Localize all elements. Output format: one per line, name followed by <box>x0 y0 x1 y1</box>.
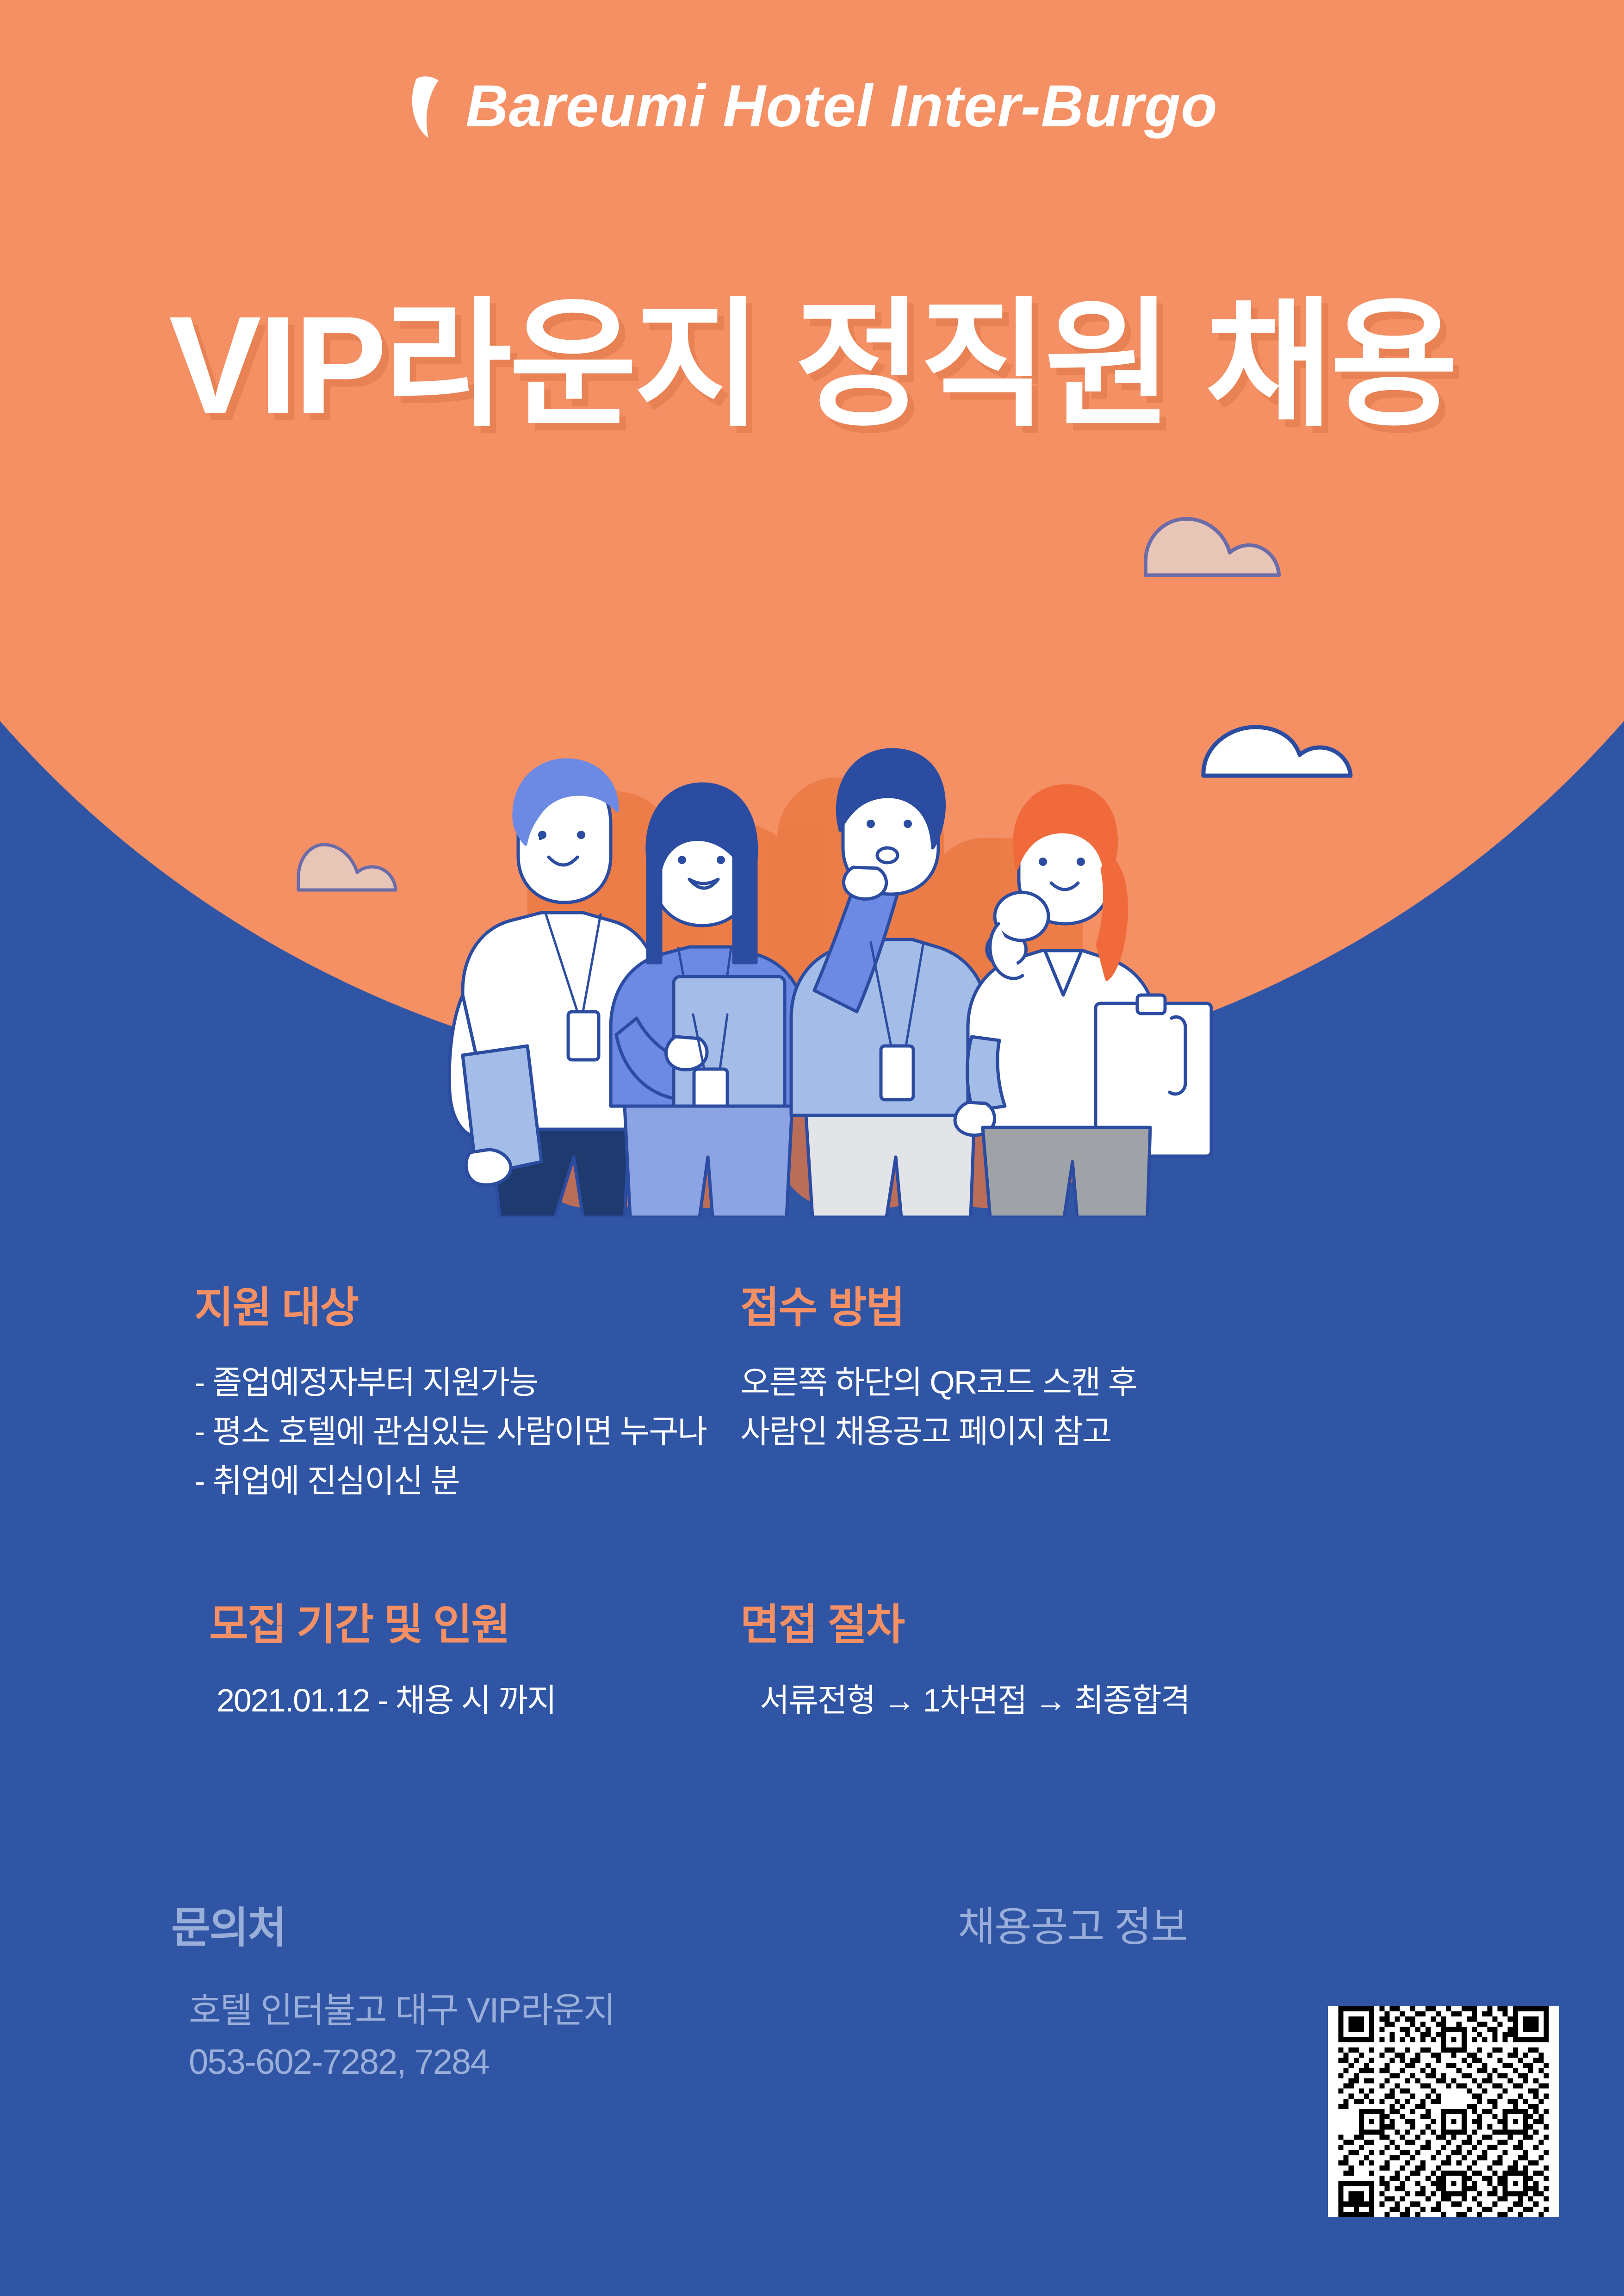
section-period: 모집 기간 및 인원 2021.01.12 - 채용 시 까지 <box>0 1604 722 1725</box>
page-title: VIP라운지 정직원 채용 <box>0 287 1624 442</box>
section-interview-heading: 면접 절차 <box>740 1604 1624 1646</box>
feather-icon <box>406 74 457 139</box>
qr-code-icon[interactable] <box>1328 2006 1559 2217</box>
qr-heading: 채용공고 정보 <box>958 1907 1624 1948</box>
qr-code-matrix <box>1328 2006 1559 2217</box>
cloud-tan-top-right-icon <box>1143 516 1282 581</box>
info-row-2: 모집 기간 및 인원 2021.01.12 - 채용 시 까지 면접 절차 서류… <box>0 1604 1624 1725</box>
brand-logo: Bareumi Hotel Inter-Burgo <box>0 74 1624 139</box>
eligibility-line-1: - 졸업예정자부터 지원가능 <box>194 1358 722 1407</box>
section-eligibility-body: - 졸업예정자부터 지원가능 - 평소 호텔에 관심있는 사람이면 누구나 - … <box>194 1358 722 1506</box>
section-application-method-body: 오른쪽 하단의 QR코드 스캔 후 사람인 채용공고 페이지 참고 <box>740 1358 1624 1456</box>
contact-body: 호텔 인터불고 대구 VIP라운지 053-602-7282, 7284 <box>171 1985 925 2088</box>
contact-heading: 문의처 <box>171 1907 925 1949</box>
contact-location: 호텔 인터불고 대구 VIP라운지 <box>189 1985 925 2037</box>
section-application-method-heading: 접수 방법 <box>740 1287 1624 1329</box>
contact-phone: 053-602-7282, 7284 <box>189 2037 925 2088</box>
section-application-method: 접수 방법 오른쪽 하단의 QR코드 스캔 후 사람인 채용공고 페이지 참고 <box>722 1287 1624 1506</box>
eligibility-line-3: - 취업에 진심이신 분 <box>194 1456 722 1506</box>
info-row-1: 지원 대상 - 졸업예정자부터 지원가능 - 평소 호텔에 관심있는 사람이면 … <box>0 1287 1624 1506</box>
recruitment-poster: Bareumi Hotel Inter-Burgo VIP라운지 정직원 채용 <box>0 0 1624 2296</box>
section-period-body: 2021.01.12 - 채용 시 까지 <box>209 1676 722 1725</box>
info-sections: 지원 대상 - 졸업예정자부터 지원가능 - 평소 호텔에 관심있는 사람이면 … <box>0 1287 1624 1725</box>
section-period-heading: 모집 기간 및 인원 <box>209 1604 722 1646</box>
section-interview-process: 면접 절차 서류전형 → 1차면접 → 최종합격 <box>722 1604 1624 1725</box>
period-line-1: 2021.01.12 - 채용 시 까지 <box>217 1676 722 1725</box>
section-eligibility-heading: 지원 대상 <box>194 1287 722 1329</box>
footer-contact: 문의처 호텔 인터불고 대구 VIP라운지 053-602-7282, 7284 <box>0 1907 925 2088</box>
application-line-2: 사람인 채용공고 페이지 참고 <box>740 1407 1624 1456</box>
application-line-1: 오른쪽 하단의 QR코드 스캔 후 <box>740 1358 1624 1407</box>
interview-line-1: 서류전형 → 1차면접 → 최종합격 <box>760 1676 1624 1725</box>
brand-name: Bareumi Hotel Inter-Burgo <box>465 77 1217 136</box>
people-illustration <box>324 639 1226 1217</box>
section-eligibility: 지원 대상 - 졸업예정자부터 지원가능 - 평소 호텔에 관심있는 사람이면 … <box>0 1287 722 1506</box>
eligibility-line-2: - 평소 호텔에 관심있는 사람이면 누구나 <box>194 1407 722 1456</box>
section-interview-body: 서류전형 → 1차면접 → 최종합격 <box>740 1676 1624 1725</box>
